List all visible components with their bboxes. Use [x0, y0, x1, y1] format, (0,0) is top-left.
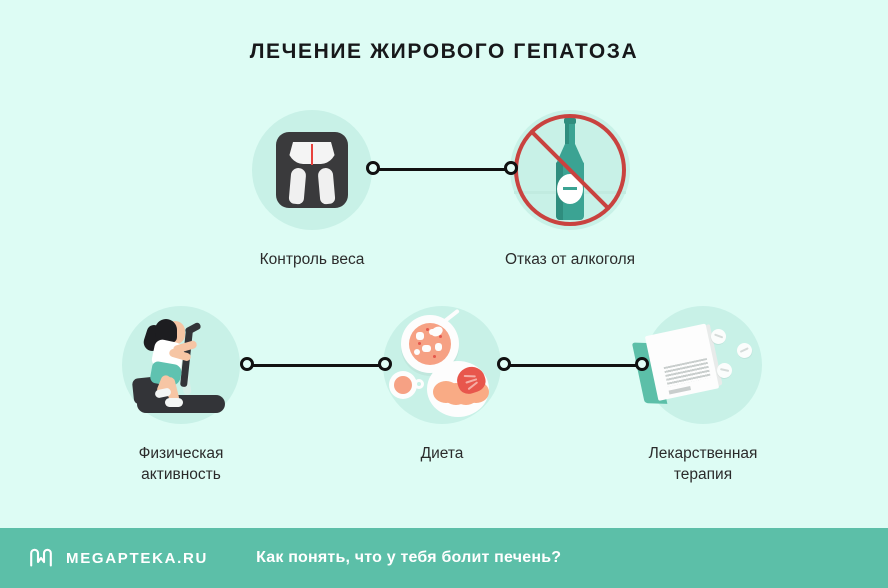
caption-drug-therapy: Лекарственная терапия: [623, 443, 783, 485]
infographic-canvas: ЛЕЧЕНИЕ ЖИРОВОГО ГЕПАТОЗА Контроль веса: [0, 0, 888, 588]
caption-weight-control: Контроль веса: [232, 249, 392, 270]
footer-tagline[interactable]: Как понять, что у тебя болит печень?: [256, 549, 561, 567]
medicine-box-icon: [644, 306, 762, 424]
brand-name[interactable]: MEGAPTEKA.RU: [66, 550, 208, 567]
node-physical-activity: [122, 306, 240, 424]
node-diet: [383, 306, 501, 424]
footer-bar: MEGAPTEKA.RU Как понять, что у тебя боли…: [0, 528, 888, 588]
connector-dot: [504, 161, 518, 175]
healthy-food-icon: [383, 306, 501, 424]
connector-dot: [366, 161, 380, 175]
caption-diet: Диета: [362, 443, 522, 464]
node-weight-control: [252, 110, 372, 230]
caption-physical-activity: Физическая активность: [101, 443, 261, 485]
connector-dot: [635, 357, 649, 371]
page-title: ЛЕЧЕНИЕ ЖИРОВОГО ГЕПАТОЗА: [0, 40, 888, 64]
node-drug-therapy: [644, 306, 762, 424]
exercise-bike-icon: [122, 306, 240, 424]
no-alcohol-icon: [510, 110, 630, 230]
connector-dot: [378, 357, 392, 371]
connector-activity-diet: [240, 357, 392, 373]
megapteka-logo-icon[interactable]: [28, 545, 54, 571]
caption-no-alcohol: Отказ от алкоголя: [490, 249, 650, 270]
weight-scale-icon: [252, 110, 372, 230]
node-no-alcohol: [510, 110, 630, 230]
connector-diet-therapy: [497, 357, 649, 373]
pill-icon: [735, 341, 755, 361]
connector-dot: [240, 357, 254, 371]
connector-weight-alcohol: [366, 161, 518, 177]
connector-dot: [497, 357, 511, 371]
